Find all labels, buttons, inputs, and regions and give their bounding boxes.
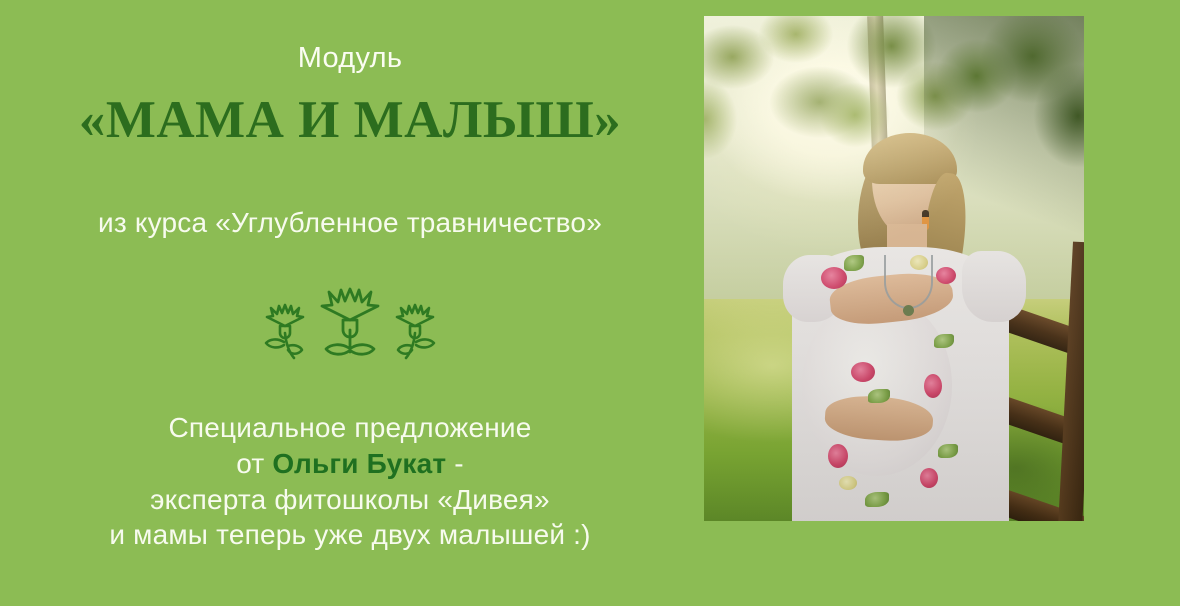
offer-author-prefix: от: [236, 448, 272, 479]
photo-sleeve-right: [962, 251, 1026, 322]
photo-dress-leaf: [865, 492, 889, 507]
text-column: Модуль «МАМА И МАЛЫШ» из курса «Углублен…: [0, 0, 700, 606]
offer-line-1: Специальное предложение: [109, 410, 590, 446]
page-title: «МАМА И МАЛЫШ»: [79, 93, 621, 149]
course-subtitle: из курса «Углубленное травничество»: [98, 208, 602, 239]
offer-author-suffix: -: [446, 448, 464, 479]
offer-author-name: Ольги Букат: [272, 448, 446, 479]
offer-block: Специальное предложение от Ольги Букат -…: [109, 410, 590, 553]
photo-fence-post: [1057, 242, 1084, 521]
photo-dress-flower: [920, 468, 938, 488]
photo-dress-flower: [821, 267, 847, 289]
photo-scene: [704, 16, 1084, 521]
promo-banner: Модуль «МАМА И МАЛЫШ» из курса «Углублен…: [0, 0, 1180, 606]
photo-dress-flower: [828, 444, 848, 468]
photo-dress-flower: [851, 362, 875, 382]
portrait-photo: [704, 16, 1084, 521]
photo-dress-leaf: [934, 334, 954, 348]
eyebrow-label: Модуль: [298, 44, 403, 73]
flower-icon-center: [318, 286, 382, 362]
flower-icon-right: [390, 300, 440, 362]
offer-line-4: и мамы теперь уже двух малышей :): [109, 517, 590, 553]
photo-pendant: [903, 305, 914, 316]
offer-line-3: эксперта фитошколы «Дивея»: [109, 482, 590, 518]
photo-woman: [788, 137, 1024, 521]
flower-icon-left: [260, 300, 310, 362]
flower-ornament: [260, 284, 440, 362]
photo-dress-flower: [924, 374, 942, 398]
offer-line-2: от Ольги Букат -: [109, 446, 590, 482]
